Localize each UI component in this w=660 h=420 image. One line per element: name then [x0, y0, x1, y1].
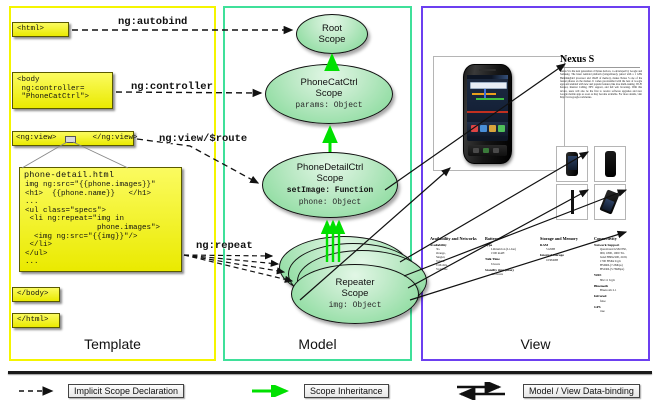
- panel-label-model: Model: [223, 336, 412, 352]
- scope-name-line1: Repeater: [335, 277, 374, 288]
- spec-column-battery: Battery Type Lithium Ion (Li-Ion) 1500 m…: [485, 236, 539, 276]
- spec-column-connectivity: Connectivity Network Support Quad-band G…: [594, 236, 648, 313]
- scope-name-line1: PhoneDetailCtrl: [297, 162, 364, 173]
- legend-item-data-binding: Model / View Data-binding: [455, 383, 640, 399]
- spec-value: 6 hours: [485, 262, 539, 266]
- diagram-canvas: Template Model View <html> <body ng:cont…: [0, 0, 660, 420]
- spec-value: 1500 mAH: [485, 251, 539, 255]
- code-phone-detail-title: phone-detail.html: [24, 170, 174, 180]
- phone-title: Nexus S: [560, 54, 594, 65]
- spec-value: 802.11 b/g/n: [594, 278, 648, 282]
- spec-value: true: [594, 309, 648, 313]
- scope-name-line2: Scope: [316, 88, 343, 99]
- panel-label-view: View: [421, 336, 650, 352]
- phone-description: Nexus S is the next generation of Nexus …: [560, 70, 642, 122]
- dock-icon: [489, 125, 496, 132]
- panel-label-template: Template: [9, 336, 216, 352]
- spec-value: Vodafone: [430, 267, 484, 271]
- phone-urlbar: [470, 82, 507, 89]
- code-body-open: <body ng:controller= "PhoneCatCtrl">: [12, 72, 113, 109]
- thumbnail-phone-back[interactable]: [594, 146, 626, 182]
- phone-screen-art: [484, 89, 486, 98]
- thumb-art: [605, 151, 616, 177]
- spec-header: Connectivity: [594, 236, 648, 241]
- scope-prop-phone: phone: Object: [299, 198, 361, 208]
- thumbnail-phone-angled[interactable]: [594, 184, 626, 220]
- phone-button: [473, 148, 479, 153]
- scope-prop: img: Object: [329, 301, 382, 311]
- spec-value: 428 hours: [485, 272, 539, 276]
- thumb-art: [566, 152, 578, 176]
- spec-header: Battery: [485, 236, 539, 241]
- phone-screen: [467, 75, 508, 141]
- thumb-art: [599, 189, 619, 214]
- dock-icon: [498, 125, 505, 132]
- title-divider: [560, 67, 640, 68]
- edge-label-autobind: ng:autobind: [118, 16, 187, 28]
- phonedetailctrl-scope: PhoneDetailCtrl Scope setImage: Function…: [262, 152, 398, 218]
- phone-speaker: [479, 69, 496, 71]
- legend-label: Scope Inheritance: [304, 384, 389, 398]
- root-scope: Root Scope: [296, 14, 368, 54]
- code-html-close: </html>: [12, 313, 60, 328]
- dashed-arrow-icon: [18, 385, 62, 397]
- spec-value: false: [594, 299, 648, 303]
- dock-icon: [471, 125, 478, 132]
- phone-button: [483, 148, 489, 153]
- legend-label: Implicit Scope Declaration: [68, 384, 184, 398]
- spec-value: 512MB: [540, 247, 594, 251]
- green-arrow-icon: [250, 385, 298, 397]
- scope-name-line2: Scope: [317, 173, 344, 184]
- edge-label-controller: ng:controller: [131, 81, 213, 93]
- code-body-close: </body>: [12, 287, 60, 302]
- phone-screen-divider: [467, 111, 508, 113]
- dock-icon: [480, 125, 487, 132]
- phone-large-image: [463, 64, 512, 164]
- scope-name-line1: PhoneCatCtrl: [300, 77, 357, 88]
- ngview-slot-icon: [65, 136, 76, 143]
- phone-screen-art: [476, 98, 504, 100]
- thumb-art: [571, 190, 574, 214]
- edge-label-route: ng:view/$route: [159, 133, 247, 145]
- thumbnail-phone-front[interactable]: [556, 146, 588, 182]
- code-html-open: <html>: [12, 22, 69, 37]
- spec-column-storage: Storage and Memory RAM 512MB Internal St…: [540, 236, 594, 262]
- phone-spec-table: Availability and Networks Availability 3…: [430, 236, 645, 331]
- phonecatctrl-scope: PhoneCatCtrl Scope params: Object: [265, 64, 393, 124]
- spec-value: Bluetooth 2.1: [594, 288, 648, 292]
- legend-item-implicit-scope: Implicit Scope Declaration: [18, 383, 184, 399]
- legend-label: Model / View Data-binding: [523, 384, 640, 398]
- scope-prop: params: Object: [295, 101, 362, 111]
- legend-item-scope-inheritance: Scope Inheritance: [250, 383, 389, 399]
- double-arrow-icon: [455, 382, 517, 400]
- code-phone-detail-template: img ng:src="{{phone.images}}" <h1> {{pho…: [19, 167, 182, 272]
- scope-name-line2: Scope: [319, 34, 346, 45]
- thumbnail-phone-side[interactable]: [556, 184, 588, 220]
- spec-header: Availability and Networks: [430, 236, 484, 241]
- scope-name-line2: Scope: [342, 288, 369, 299]
- repeater-scope: Repeater Scope img: Object: [291, 264, 419, 324]
- scope-prop-setimage: setImage: Function: [287, 186, 373, 196]
- edge-label-repeat: ng:repeat: [196, 240, 253, 252]
- spec-value: 16384MB: [540, 258, 594, 262]
- spec-value: HSUPA (5.76Mbps): [594, 267, 648, 271]
- spec-column-availability: Availability and Networks Availability 3…: [430, 236, 484, 271]
- phone-statusbar: [467, 75, 508, 79]
- scope-name-line1: Root: [322, 23, 342, 34]
- legend-divider: [8, 371, 652, 374]
- spec-header: Storage and Memory: [540, 236, 594, 241]
- phone-button: [493, 148, 499, 153]
